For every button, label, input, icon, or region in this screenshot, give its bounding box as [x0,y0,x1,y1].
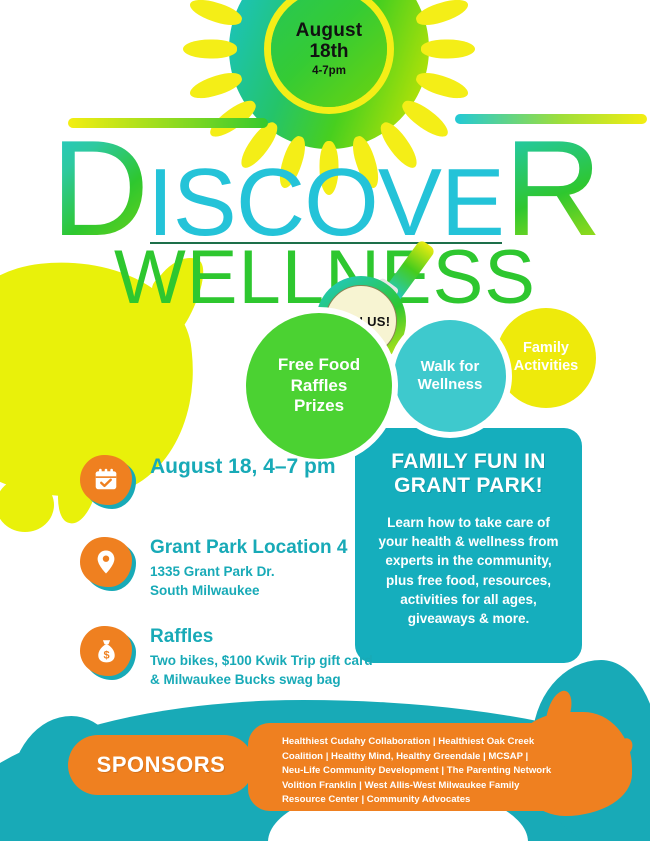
family-fun-body: Learn how to take care of your health & … [371,513,566,628]
flyer-canvas: August 18th 4-7pm DISCOVER WELLNESS JOIN… [0,0,650,841]
detail-text-raffles: Raffles Two bikes, $100 Kwik Trip gift c… [150,626,373,689]
sun-ray [183,40,237,59]
family-fun-title: FAMILY FUN IN GRANT PARK! [371,450,566,497]
svg-text:$: $ [103,650,109,662]
raffles-description: Two bikes, $100 Kwik Trip gift card & Mi… [150,651,373,689]
bubble-walk-for-wellness: Walk for Wellness [394,320,506,432]
sponsors-label-pill: SPONSORS [68,735,254,795]
bubble-free-food-label: Free Food Raffles Prizes [278,355,360,417]
sponsor-line: Healthiest Cudahy Collaboration | Health… [282,735,552,750]
sponsor-line: Coalition | Healthy Mind, Healthy Greend… [282,750,552,765]
detail-row-raffles: $ Raffles Two bikes, $100 Kwik Trip gift… [80,626,380,689]
sun-ray [414,0,471,30]
badge-body [80,455,132,505]
detail-text-location: Grant Park Location 4 1335 Grant Park Dr… [150,537,347,600]
sponsors-label: SPONSORS [97,752,226,778]
sun-ray [398,0,453,3]
sun-ray [187,0,244,30]
detail-text-date: August 18, 4–7 pm [150,455,336,479]
raffles-title: Raffles [150,626,373,648]
sun-ring [264,0,394,114]
event-location-name: Grant Park Location 4 [150,537,347,559]
sponsors-list: Healthiest Cudahy Collaboration | Health… [248,723,566,811]
detail-row-location: Grant Park Location 4 1335 Grant Park Dr… [80,537,380,600]
title-block: DISCOVER WELLNESS JOIN US! [0,118,650,290]
calendar-icon [93,467,119,493]
badge-body: $ [80,626,132,676]
calendar-badge [80,455,136,507]
location-badge [80,537,136,589]
sun-day: 18th [309,42,348,61]
sponsor-line: Resource Center | Community Advocates [282,793,552,808]
sponsor-line: Volition Franklin | West Allis-West Milw… [282,779,552,794]
sponsor-line: Neu-Life Community Development | The Par… [282,764,552,779]
event-location-address: 1335 Grant Park Dr. South Milwaukee [150,562,347,600]
family-fun-card: FAMILY FUN IN GRANT PARK! Learn how to t… [355,428,582,663]
bubble-family-activities: Family Activities [496,308,596,408]
yellow-splash-dot [0,478,54,532]
sponsors-band: Healthiest Cudahy Collaboration | Health… [0,700,650,841]
sun-ray [421,40,475,59]
sun-time: 4-7pm [312,66,346,78]
location-pin-icon [94,549,118,575]
raffles-badge: $ [80,626,136,678]
sun-ray [205,0,260,3]
bubble-walk-for-wellness-label: Walk for Wellness [418,358,483,395]
bubble-family-activities-label: Family Activities [514,340,578,375]
bubble-free-food: Free Food Raffles Prizes [246,313,392,459]
event-details-list: August 18, 4–7 pm Grant Park Location 4 … [80,455,380,711]
money-bag-icon: $ [94,638,119,664]
sun-month: August [296,21,363,40]
sun-ray [187,68,244,103]
badge-body [80,537,132,587]
sun-ray [414,68,471,103]
sun-date-badge: August 18th 4-7pm [271,0,387,107]
event-date-time: August 18, 4–7 pm [150,455,336,479]
detail-row-date: August 18, 4–7 pm [80,455,380,507]
